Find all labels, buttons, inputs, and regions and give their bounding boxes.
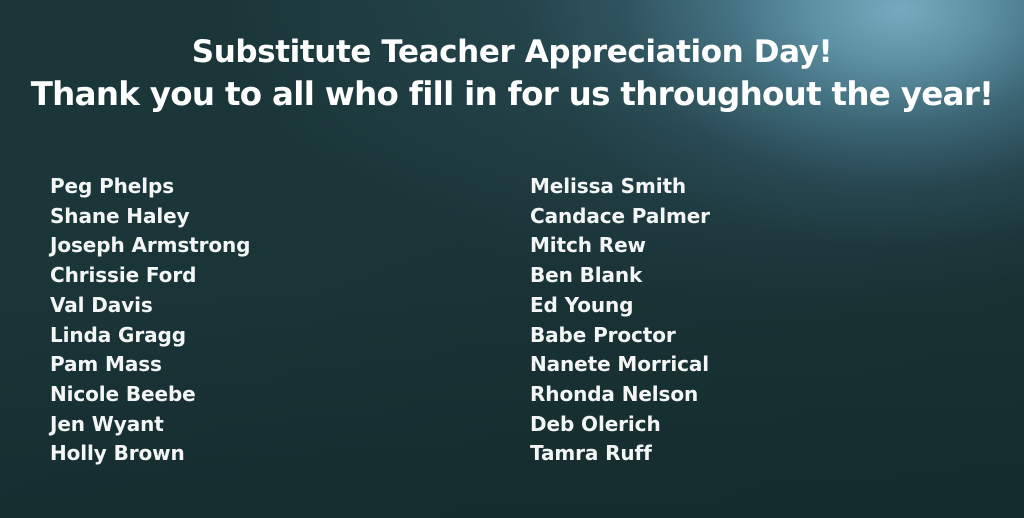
name-item: Chrissie Ford [50,261,490,291]
name-item: Jen Wyant [50,410,490,440]
name-item: Mitch Rew [530,231,980,261]
poster-content: Substitute Teacher Appreciation Day! Tha… [0,0,1024,518]
name-lists: Peg PhelpsShane HaleyJoseph ArmstrongChr… [0,172,1024,482]
name-item: Nanete Morrical [530,350,980,380]
name-item: Deb Olerich [530,410,980,440]
name-item: Val Davis [50,291,490,321]
poster-title: Substitute Teacher Appreciation Day! Tha… [0,32,1024,116]
name-item: Pam Mass [50,350,490,380]
title-line-1: Substitute Teacher Appreciation Day! [0,32,1024,73]
name-item: Ben Blank [530,261,980,291]
name-item: Peg Phelps [50,172,490,202]
name-column-left: Peg PhelpsShane HaleyJoseph ArmstrongChr… [50,172,490,469]
name-item: Shane Haley [50,202,490,232]
name-item: Nicole Beebe [50,380,490,410]
name-column-right: Melissa SmithCandace PalmerMitch RewBen … [530,172,980,469]
title-line-2: Thank you to all who fill in for us thro… [0,73,1024,116]
name-item: Ed Young [530,291,980,321]
name-item: Candace Palmer [530,202,980,232]
name-item: Rhonda Nelson [530,380,980,410]
name-item: Babe Proctor [530,321,980,351]
appreciation-poster: Substitute Teacher Appreciation Day! Tha… [0,0,1024,518]
name-item: Joseph Armstrong [50,231,490,261]
name-item: Linda Gragg [50,321,490,351]
name-item: Holly Brown [50,439,490,469]
name-item: Tamra Ruff [530,439,980,469]
name-item: Melissa Smith [530,172,980,202]
